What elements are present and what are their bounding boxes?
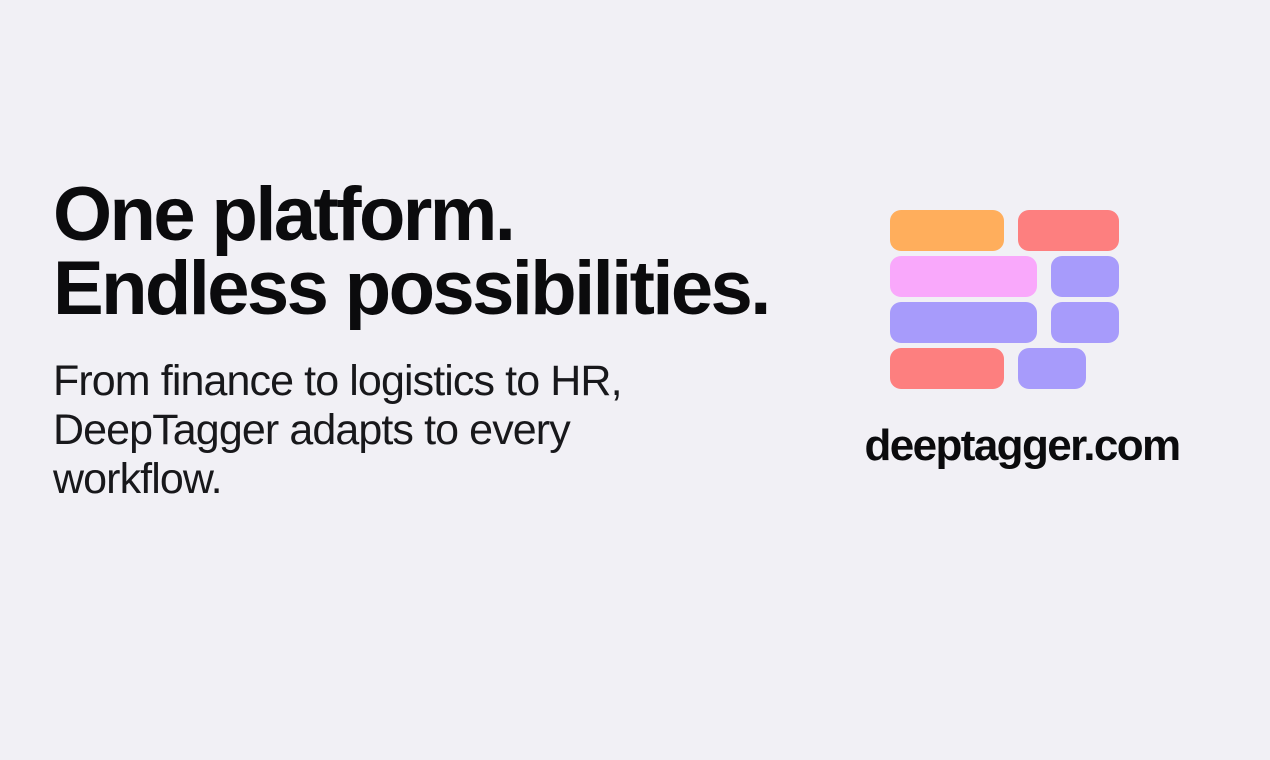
promo-slide: One platform. Endless possibilities. Fro…	[0, 0, 1270, 760]
copy-block: One platform. Endless possibilities. Fro…	[53, 178, 793, 504]
subheadline-line-2: DeepTagger adapts to every	[53, 406, 753, 455]
brand-block: deeptagger.com	[856, 210, 1188, 471]
subheadline-line-3: workflow.	[53, 455, 753, 504]
logo-bar-periwinkle	[1051, 256, 1119, 297]
logo-row	[890, 348, 1120, 389]
headline-line-2: Endless possibilities.	[53, 252, 793, 326]
headline-line-1: One platform.	[53, 178, 793, 252]
logo-bar-orange	[890, 210, 1004, 251]
logo-row	[890, 302, 1120, 343]
brand-wordmark: deeptagger.com	[856, 389, 1188, 471]
subheadline-line-1: From finance to logistics to HR,	[53, 357, 753, 406]
deeptagger-logo-icon	[890, 210, 1120, 389]
subheadline: From finance to logistics to HR, DeepTag…	[53, 326, 753, 504]
page-title: One platform. Endless possibilities.	[53, 178, 793, 326]
logo-row	[890, 256, 1120, 297]
logo-bar-periwinkle	[1018, 348, 1086, 389]
logo-bar-coral	[1018, 210, 1119, 251]
logo-bar-pink	[890, 256, 1037, 297]
logo-row	[890, 210, 1120, 251]
logo-bar-periwinkle	[1051, 302, 1119, 343]
logo-bar-coral	[890, 348, 1004, 389]
logo-bar-periwinkle	[890, 302, 1037, 343]
